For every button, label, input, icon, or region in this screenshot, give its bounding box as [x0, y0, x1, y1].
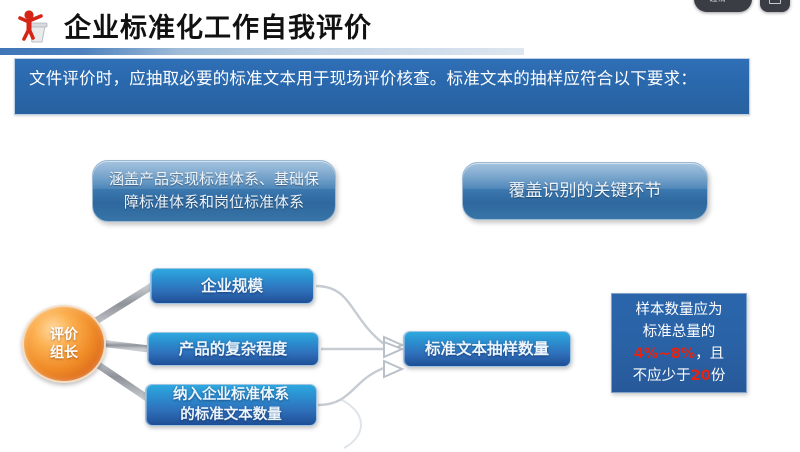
- box-enterprise-scale: 企业规模: [150, 268, 314, 304]
- sampling-rule-text: 样本数量应为标准总量的4%~8%，且不应少于20份: [633, 299, 726, 387]
- sampling-rule-note: 样本数量应为标准总量的4%~8%，且不应少于20份: [611, 293, 747, 393]
- note-line-4-suffix: 份: [711, 368, 726, 384]
- box-sampling-quantity-label: 标准文本抽样数量: [425, 339, 549, 360]
- box-standard-count-label: 纳入企业标准体系 的标准文本数量: [173, 385, 289, 425]
- slide-canvas: 企业标准化工作自我评价 文件评价时，应抽取必要的标准文本用于现场评价核查。标准文…: [0, 0, 800, 452]
- role-oval: 评价 组长: [22, 305, 106, 383]
- role-oval-label: 评价 组长: [50, 326, 78, 362]
- box-standard-count: 纳入企业标准体系 的标准文本数量: [145, 384, 317, 426]
- arrowhead-count: [384, 361, 402, 377]
- standard-count-line-2: 的标准文本数量: [180, 407, 282, 423]
- note-line-4-prefix: 不应少于: [633, 368, 691, 384]
- note-line-3-tail: ，且: [695, 346, 724, 362]
- box-sampling-quantity: 标准文本抽样数量: [403, 331, 571, 367]
- wire-scale-to-result: [316, 286, 384, 344]
- standard-count-line-1: 纳入企业标准体系: [173, 387, 289, 403]
- note-min-highlight: 20: [691, 368, 711, 384]
- role-line-2: 组长: [50, 345, 78, 361]
- note-line-1: 样本数量应为: [636, 302, 723, 318]
- note-line-2: 标准总量的: [643, 324, 716, 340]
- wire-count-to-result: [318, 368, 384, 405]
- role-line-1: 评价: [50, 327, 78, 343]
- box-enterprise-scale-label: 企业规模: [201, 276, 263, 297]
- wire-decorative: [342, 400, 361, 448]
- box-product-complexity-label: 产品的复杂程度: [179, 339, 288, 360]
- note-range-highlight: 4%~8%: [634, 346, 695, 362]
- box-product-complexity: 产品的复杂程度: [147, 332, 319, 366]
